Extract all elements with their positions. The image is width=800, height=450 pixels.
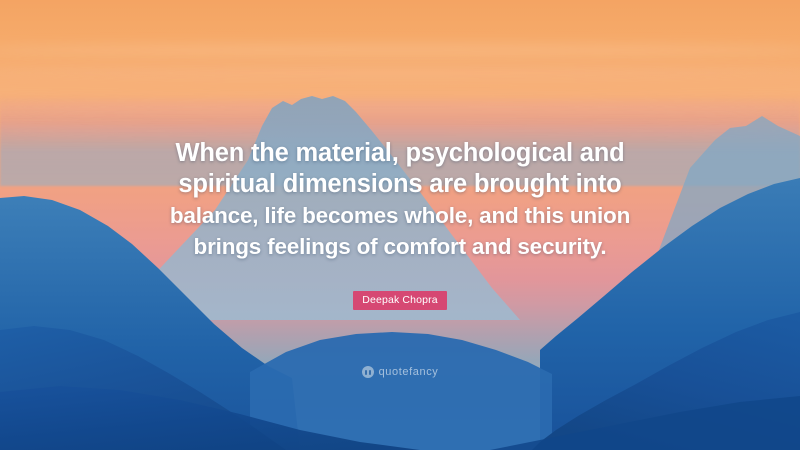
watermark: quotefancy: [0, 365, 800, 383]
quote-image-canvas: When the material, psychological and spi…: [0, 0, 800, 450]
author-attribution: Deepak Chopra: [0, 290, 800, 310]
watermark-label: quotefancy: [379, 366, 439, 378]
quote-line-2: spiritual dimensions are brought into: [70, 169, 730, 200]
quote-text-block: When the material, psychological and spi…: [0, 138, 800, 262]
quote-line-1: When the material, psychological and: [70, 138, 730, 169]
author-name-badge[interactable]: Deepak Chopra: [353, 291, 447, 310]
quote-line-3: balance, life becomes whole, and this un…: [70, 200, 730, 231]
quote-line-4: brings feelings of comfort and security.: [70, 231, 730, 262]
watermark-inner[interactable]: quotefancy: [362, 366, 439, 378]
quotefancy-logo-icon: [362, 366, 374, 378]
